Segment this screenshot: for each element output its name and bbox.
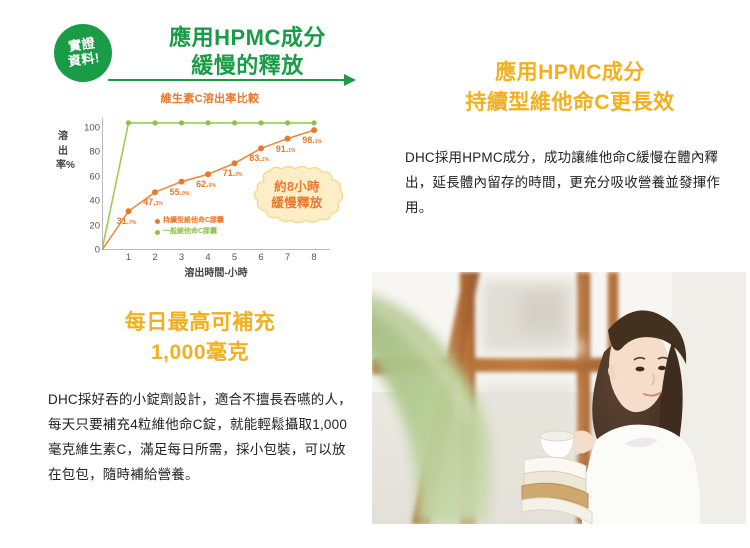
chart-point-sustained — [126, 208, 132, 214]
chart-data-label: 71.0% — [223, 168, 243, 178]
callout-text: 約8小時 緩慢釋放 — [248, 166, 346, 224]
chart-x-tick: 5 — [232, 252, 237, 263]
chart-y-ticks: 020406080100 — [70, 118, 100, 250]
chart-data-label: 31.7% — [117, 216, 137, 226]
legend-label-sustained: 持續型維他命C膠囊 — [163, 216, 224, 227]
legend-dot-icon-sustained — [155, 219, 160, 224]
chart-y-tick: 80 — [74, 147, 100, 158]
top-heading-line-1: 應用HPMC成分 — [130, 24, 365, 52]
chart-y-tick: 0 — [74, 245, 100, 256]
legend-item-sustained: 持續型維他命C膠囊 — [155, 216, 224, 227]
right-heading-line-1: 應用HPMC成分 — [392, 58, 748, 88]
chart-x-axis-label: 溶出時間-小時 — [102, 264, 330, 279]
legend-dot-icon-regular — [155, 230, 160, 235]
chart-y-tick: 100 — [74, 122, 100, 133]
chart-y-axis-label: 溶出率% — [56, 130, 70, 174]
promo-page: 實證 資料! 應用HPMC成分 緩慢的釋放 維生素C溶出率比較 溶出率% 020… — [0, 0, 750, 548]
chart-y-tick: 40 — [74, 196, 100, 207]
photo-illustration — [372, 272, 746, 524]
chart-point-sustained — [285, 136, 291, 142]
chart-data-label: 98.1% — [302, 135, 322, 145]
evidence-badge: 實證 資料! — [50, 20, 116, 86]
chart-point-sustained — [152, 189, 158, 195]
chart-point-regular — [126, 120, 131, 125]
chart-data-label: 91.1% — [276, 144, 296, 154]
chart-x-tick: 6 — [258, 252, 263, 263]
legend-item-regular: 一般維他命C膠囊 — [155, 227, 224, 238]
callout-line-1: 約8小時 — [274, 179, 320, 195]
callout-line-2: 緩慢釋放 — [271, 195, 322, 211]
chart-title: 維生素C溶出率比較 — [110, 90, 310, 106]
chart-x-tick: 7 — [285, 252, 290, 263]
chart-data-label: 55.9% — [170, 187, 190, 197]
right-body-text: DHC採用HPMC成分，成功讓維他命C緩慢在體內釋出，延長體內留存的時間，更充分… — [405, 146, 735, 221]
right-heading: 應用HPMC成分 持續型維他命C更長效 — [392, 58, 748, 118]
chart-point-sustained — [205, 171, 211, 177]
chart-x-tick: 4 — [205, 252, 210, 263]
chart-point-regular — [285, 120, 290, 125]
bottom-heading-line-2: 1,000毫克 — [40, 338, 360, 368]
chart-point-regular — [311, 120, 316, 125]
chart-point-regular — [232, 120, 237, 125]
chart-point-regular — [258, 120, 263, 125]
chart-point-regular — [179, 120, 184, 125]
legend-label-regular: 一般維他命C膠囊 — [163, 227, 217, 238]
chart-x-tick: 8 — [311, 252, 316, 263]
chart-point-sustained — [258, 145, 264, 151]
chart-point-regular — [152, 120, 157, 125]
chart-point-regular — [205, 120, 210, 125]
badge-line-2: 資料! — [67, 51, 101, 70]
green-arrow — [108, 74, 358, 86]
callout-cloud: 約8小時 緩慢釋放 — [248, 166, 346, 224]
chart-x-tick: 1 — [126, 252, 131, 263]
bottom-body-text: DHC採好吞的小錠劑設計，適合不擅長吞嚥的人，每天只要補充4粒維他命C錠，就能輕… — [48, 388, 358, 488]
chart-data-label: 62.0% — [196, 179, 216, 189]
chart-point-sustained — [179, 179, 185, 185]
right-heading-line-2: 持續型維他命C更長效 — [392, 88, 748, 118]
chart-data-label: 83.1% — [249, 153, 269, 163]
chart-y-tick: 20 — [74, 220, 100, 231]
bottom-heading: 每日最高可補充 1,000毫克 — [40, 308, 360, 369]
lifestyle-photo — [372, 272, 746, 524]
arrow-line — [108, 79, 344, 81]
chart-data-label: 47.3% — [143, 197, 163, 207]
chart-x-tick: 3 — [179, 252, 184, 263]
bottom-heading-line-1: 每日最高可補充 — [40, 308, 360, 338]
arrow-head-icon — [344, 74, 356, 86]
chart-x-tick: 2 — [152, 252, 157, 263]
chart-point-sustained — [311, 127, 317, 133]
chart-legend: 持續型維他命C膠囊 一般維他命C膠囊 — [155, 216, 224, 238]
chart-y-tick: 60 — [74, 171, 100, 182]
top-heading: 應用HPMC成分 緩慢的釋放 — [130, 24, 365, 80]
chart-point-sustained — [232, 160, 238, 166]
